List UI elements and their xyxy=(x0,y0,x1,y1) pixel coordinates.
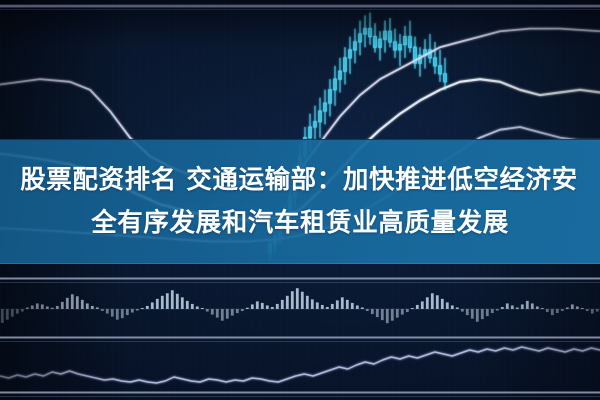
panel-divider-upper-thin xyxy=(0,282,600,283)
banner-image: 股票配资 股票配资排名 交通运输部：加快推进低空经济安 全有序发展和汽车租赁业高… xyxy=(0,0,600,400)
top-divider-line-secondary xyxy=(0,9,600,10)
top-divider-line xyxy=(0,4,600,8)
panel-divider-lower xyxy=(0,391,600,394)
panel-divider-lower-thin xyxy=(0,396,600,397)
headline-text-block: 股票配资排名 交通运输部：加快推进低空经济安 全有序发展和汽车租赁业高质量发展 xyxy=(0,139,600,264)
panel-divider-upper xyxy=(0,277,600,280)
panel-divider-middle xyxy=(0,336,600,339)
headline-line-2: 全有序发展和汽车租赁业高质量发展 xyxy=(91,203,509,243)
headline-line-1: 股票配资排名 交通运输部：加快推进低空经济安 xyxy=(20,160,578,200)
panel-divider-middle-thin xyxy=(0,341,600,342)
